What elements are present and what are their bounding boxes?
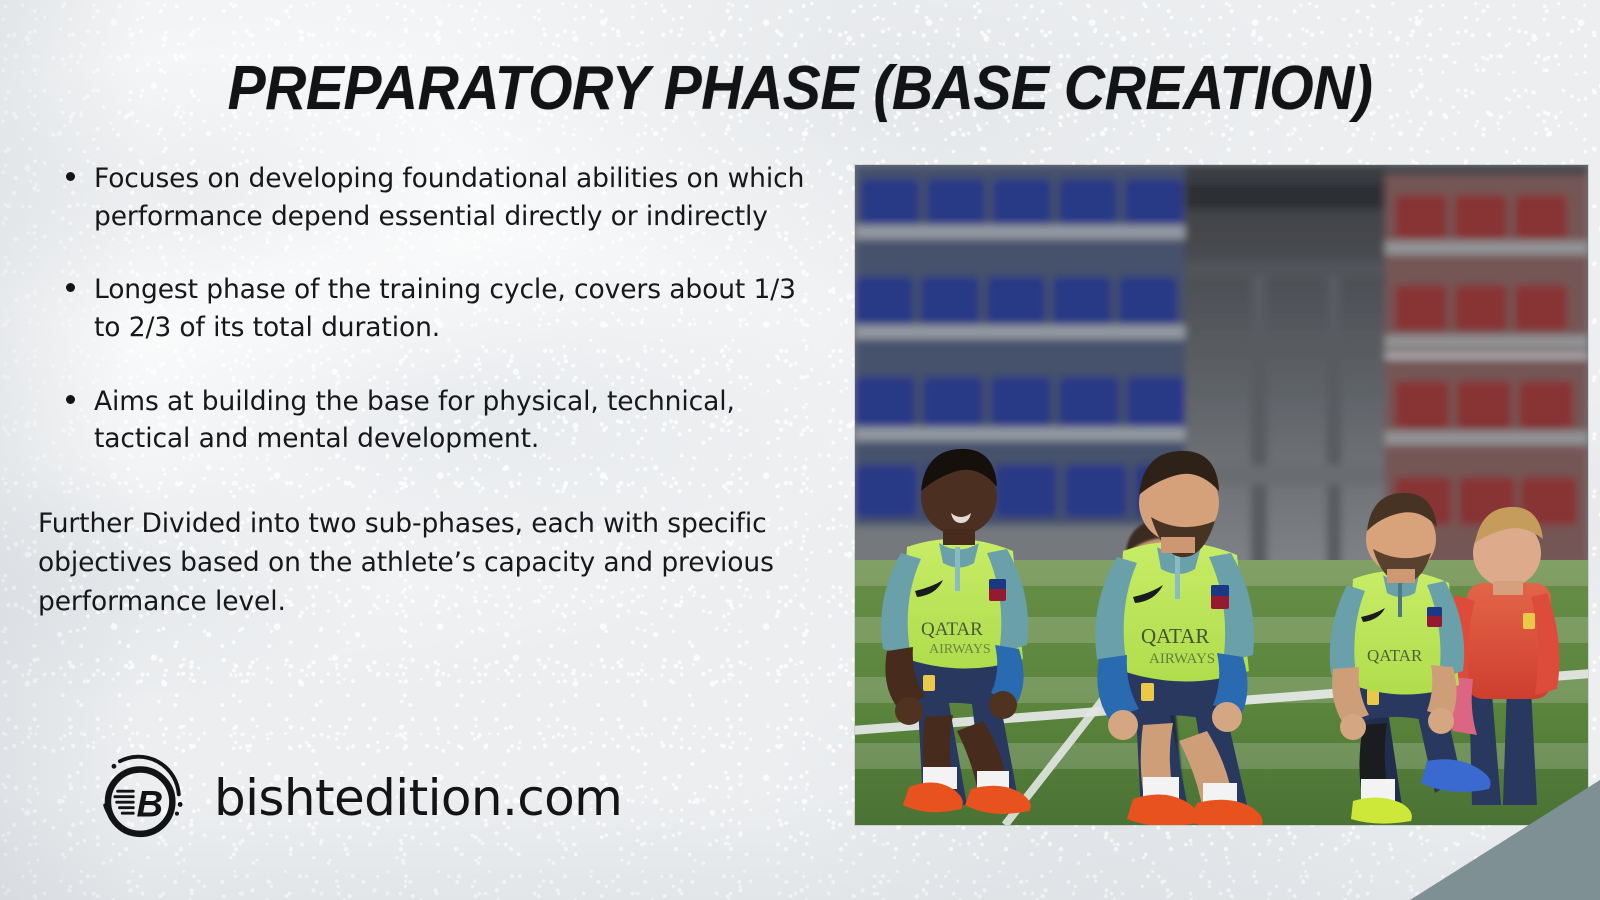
bullet-text: Aims at building the base for physical, …	[94, 386, 735, 455]
brand-website-text: bishtedition.com	[214, 773, 622, 823]
slide-canvas: PREPARATORY PHASE (BASE CREATION) Focuse…	[0, 0, 1600, 900]
bisht-circular-b-logo-icon: B	[96, 752, 188, 844]
brand-logo[interactable]: B bishtedition.com	[96, 752, 622, 844]
bullet-item: Aims at building the base for physical, …	[38, 383, 828, 458]
bullet-item: Focuses on developing foundational abili…	[38, 160, 828, 235]
bullet-dot-icon	[66, 172, 75, 181]
bullet-item: Longest phase of the training cycle, cov…	[38, 271, 828, 346]
bullet-dot-icon	[66, 283, 75, 292]
svg-text:B: B	[136, 783, 163, 824]
bullet-text: Focuses on developing foundational abili…	[94, 163, 804, 232]
bullet-dot-icon	[66, 395, 75, 404]
training-photo: QATAR	[855, 165, 1588, 825]
bullet-list: Focuses on developing foundational abili…	[38, 160, 828, 458]
bullet-text: Longest phase of the training cycle, cov…	[94, 274, 796, 343]
summary-paragraph: Further Divided into two sub-phases, eac…	[38, 504, 798, 622]
content-column: Focuses on developing foundational abili…	[38, 160, 828, 621]
slide-title: PREPARATORY PHASE (BASE CREATION)	[64, 58, 1536, 120]
training-photo-illustration: QATAR	[855, 165, 1588, 825]
